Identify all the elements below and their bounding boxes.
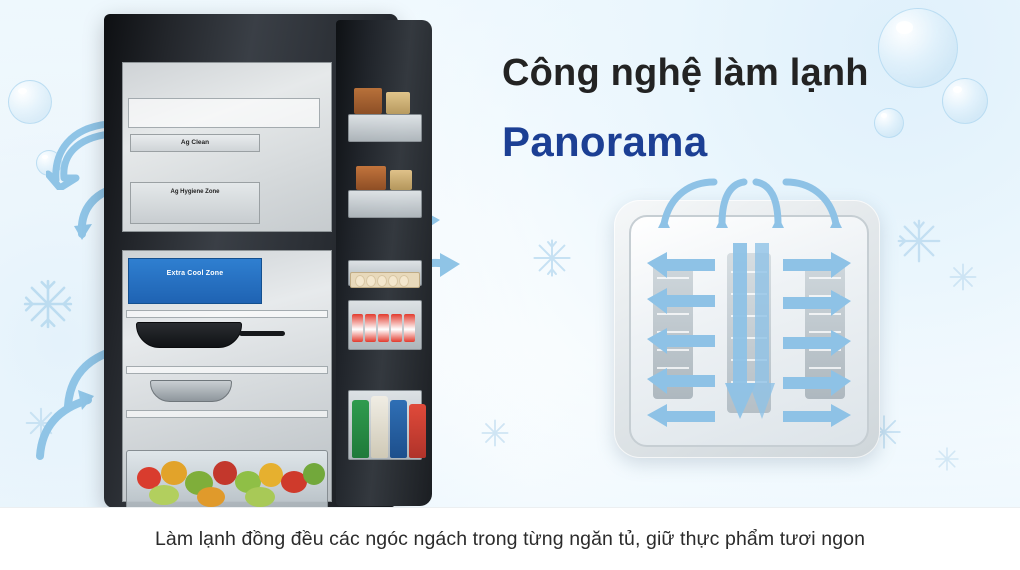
egg: [355, 275, 365, 287]
vegetable: [197, 487, 225, 507]
door-food-box: [390, 170, 412, 190]
headline-primary: Công nghệ làm lạnh: [502, 52, 869, 95]
ag-hygiene-zone-drawer: Ag Hygiene Zone: [130, 182, 260, 224]
diagram-left-arrows: [637, 251, 729, 427]
fridge-shelf: [126, 366, 328, 374]
beverage-can: [365, 314, 376, 342]
bottle: [352, 400, 369, 458]
diagram-inner-panel: [629, 215, 869, 447]
bottle: [409, 404, 426, 458]
door-food-box: [386, 92, 410, 114]
diagram-inflow-arrows: [618, 176, 880, 232]
fridge-shelf: [126, 410, 328, 418]
diagram-center-arrows: [725, 243, 775, 423]
bubble-decoration: [874, 108, 904, 138]
bottle: [390, 400, 407, 458]
ag-clean-panel: Ag Clean: [130, 134, 260, 152]
egg-tray: [350, 272, 420, 288]
promo-banner: Ag Clean Ag Hygiene Zone Extra Cool Zone: [0, 0, 1020, 570]
fridge-shelf: [126, 310, 328, 318]
door-bin: [348, 190, 422, 218]
vegetable: [245, 487, 275, 507]
diagram-right-arrows: [769, 251, 861, 427]
freezer-shelf: [128, 98, 320, 128]
snowflake-icon: [532, 238, 572, 278]
caption-bar: Làm lạnh đồng đều các ngóc ngách trong t…: [0, 507, 1020, 570]
caption-text: Làm lạnh đồng đều các ngóc ngách trong t…: [155, 528, 865, 551]
crisper-drawer: [126, 450, 328, 510]
door-bin: [348, 114, 422, 142]
snowflake-icon: [22, 278, 74, 330]
egg: [366, 275, 376, 287]
vegetable: [213, 461, 237, 485]
snowflake-icon: [896, 218, 942, 264]
ag-hygiene-zone-label: Ag Hygiene Zone: [131, 189, 259, 195]
door-food-box: [356, 166, 386, 190]
bubble-decoration: [942, 78, 988, 124]
extra-cool-zone-label: Extra Cool Zone: [129, 270, 261, 277]
vegetable: [149, 485, 179, 505]
steel-bowl: [150, 380, 232, 402]
door-food-box: [354, 88, 382, 114]
bubble-decoration: [878, 8, 958, 88]
egg: [399, 275, 409, 287]
bottle: [371, 396, 388, 458]
extra-cool-zone: Extra Cool Zone: [128, 258, 262, 304]
beverage-can: [404, 314, 415, 342]
egg: [388, 275, 398, 287]
vegetable: [161, 461, 187, 485]
ag-clean-label: Ag Clean: [131, 139, 259, 146]
panorama-airflow-diagram: [614, 200, 880, 458]
snowflake-icon: [480, 418, 510, 448]
airflow-arrow: [30, 386, 96, 462]
refrigerator-image: Ag Clean Ag Hygiene Zone Extra Cool Zone: [104, 14, 434, 512]
vegetable: [303, 463, 325, 485]
headline-brand: Panorama: [502, 118, 708, 166]
vegetable: [259, 463, 283, 487]
frying-pan: [136, 322, 242, 348]
snowflake-icon: [948, 262, 978, 292]
beverage-can: [378, 314, 389, 342]
beverage-can: [352, 314, 363, 342]
egg: [377, 275, 387, 287]
snowflake-icon: [934, 446, 960, 472]
beverage-can: [391, 314, 402, 342]
